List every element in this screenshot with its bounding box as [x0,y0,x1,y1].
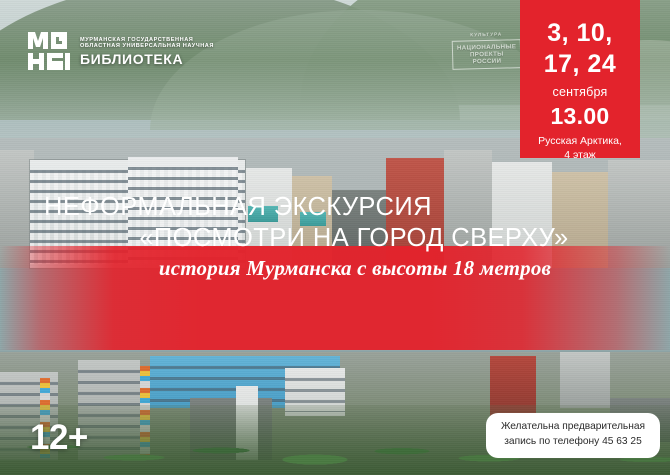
event-time: 13.00 [550,103,609,130]
booking-note-line2: запись по телефону 45 63 25 [494,435,652,450]
event-dates: 3, 10, 17, 24 [544,18,617,79]
event-date-panel: 3, 10, 17, 24 сентября 13.00 Русская Арк… [520,0,640,158]
event-title-line1: НЕФОРМАЛЬНАЯ ЭКСКУРСИЯ [44,194,670,221]
age-rating-badge: 12+ [30,418,88,458]
event-venue: Русская Арктика, 4 этаж [538,134,622,162]
event-venue-line1: Русская Арктика, [538,134,622,148]
event-month: сентября [553,85,608,99]
event-venue-line2: 4 этаж [538,148,622,162]
event-dates-line2: 17, 24 [544,49,617,80]
poster: МУРМАНСКАЯ ГОСУДАРСТВЕННАЯ ОБЛАСТНАЯ УНИ… [0,0,670,475]
event-dates-line1: 3, 10, [544,18,617,49]
booking-note: Желательна предварительная запись по тел… [486,413,660,458]
booking-note-line1: Желательна предварительная [494,420,652,435]
event-subtitle: история Мурманска с высоты 18 метров [44,256,670,281]
event-title-line2: «ПОСМОТРИ НА ГОРОД СВЕРХУ» [44,225,670,252]
